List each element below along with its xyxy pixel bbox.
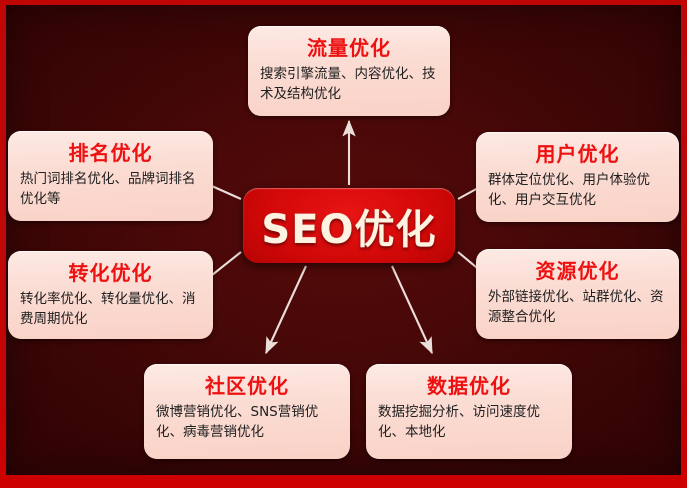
card-resource-body: 外部链接优化、站群优化、资源整合优化 xyxy=(488,287,667,327)
seo-mindmap-diagram: 流量优化 搜索引擎流量、内容优化、技术及结构优化 排名优化 热门词排名优化、品牌… xyxy=(0,0,687,488)
card-community-body: 微博营销优化、SNS营销优化、病毒营销优化 xyxy=(156,402,338,442)
card-traffic[interactable]: 流量优化 搜索引擎流量、内容优化、技术及结构优化 xyxy=(248,26,450,116)
card-community-title: 社区优化 xyxy=(156,373,338,399)
card-resource-title: 资源优化 xyxy=(488,258,667,284)
card-traffic-title: 流量优化 xyxy=(260,35,438,61)
card-data-title: 数据优化 xyxy=(378,373,560,399)
center-node[interactable]: SEO优化 xyxy=(243,188,455,263)
card-user[interactable]: 用户优化 群体定位优化、用户体验优化、用户交互优化 xyxy=(476,132,679,222)
card-conversion-body: 转化率优化、转化量优化、消费周期优化 xyxy=(20,289,201,329)
card-conversion[interactable]: 转化优化 转化率优化、转化量优化、消费周期优化 xyxy=(8,251,213,339)
card-user-title: 用户优化 xyxy=(488,141,667,167)
card-ranking-title: 排名优化 xyxy=(20,140,201,166)
card-conversion-title: 转化优化 xyxy=(20,260,201,286)
card-user-body: 群体定位优化、用户体验优化、用户交互优化 xyxy=(488,170,667,210)
card-ranking[interactable]: 排名优化 热门词排名优化、品牌词排名优化等 xyxy=(8,131,213,221)
center-node-label: SEO优化 xyxy=(261,197,436,255)
card-data[interactable]: 数据优化 数据挖掘分析、访问速度优化、本地化 xyxy=(366,364,572,459)
card-ranking-body: 热门词排名优化、品牌词排名优化等 xyxy=(20,169,201,209)
card-data-body: 数据挖掘分析、访问速度优化、本地化 xyxy=(378,402,560,442)
card-community[interactable]: 社区优化 微博营销优化、SNS营销优化、病毒营销优化 xyxy=(144,364,350,459)
card-resource[interactable]: 资源优化 外部链接优化、站群优化、资源整合优化 xyxy=(476,249,679,339)
card-traffic-body: 搜索引擎流量、内容优化、技术及结构优化 xyxy=(260,64,438,104)
